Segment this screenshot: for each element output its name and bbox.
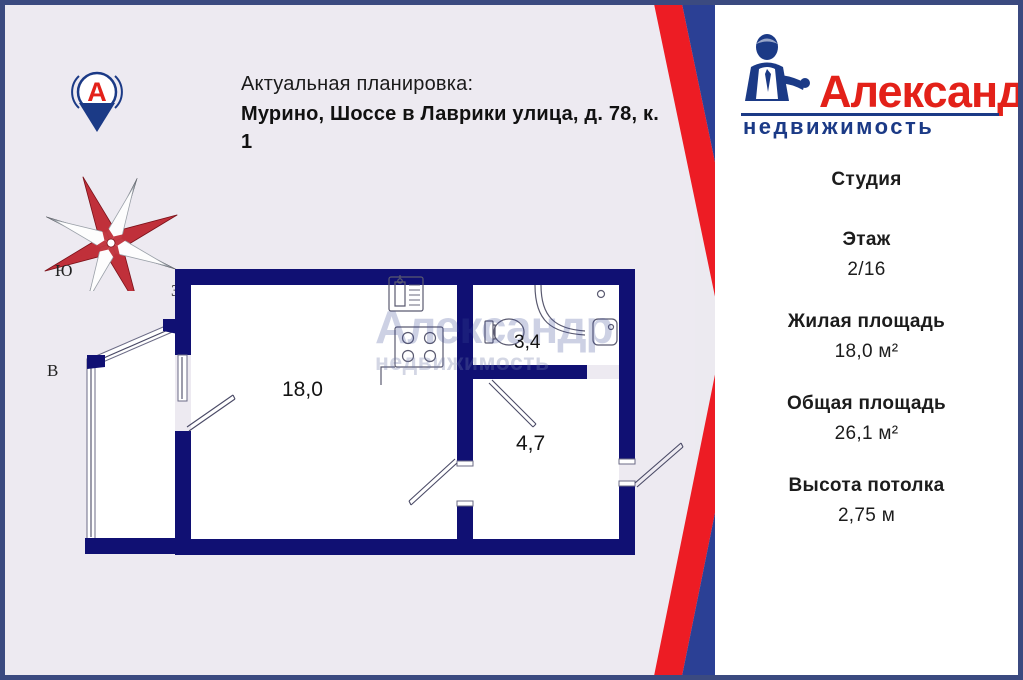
svg-text:A: A <box>87 77 107 107</box>
property-type: Студия <box>715 165 1018 195</box>
realtor-figure-icon <box>733 33 813 119</box>
plan-pane: A Актуальная планировка: Мурино, Шоссе в… <box>5 5 695 675</box>
brand-logo: Александр недвижимость <box>733 27 1003 145</box>
plan-address: Мурино, Шоссе в Лаврики улица, д. 78, к.… <box>241 100 661 156</box>
location-pin-icon: A <box>67 62 127 134</box>
floorplan-listing-card: A Актуальная планировка: Мурино, Шоссе в… <box>0 0 1023 680</box>
floor-plan-drawing: .w { fill:#101073; } .rm { fill:#ffffff;… <box>65 255 685 575</box>
plan-subtitle: Актуальная планировка: <box>241 71 661 97</box>
info-value-total-area: 26,1 м² <box>715 419 1018 449</box>
info-row-floor: Этаж 2/16 <box>715 225 1018 285</box>
brand-subtitle: недвижимость <box>743 115 934 139</box>
info-label-ceiling-height: Высота потолка <box>715 471 1018 501</box>
info-label-living-area: Жилая площадь <box>715 307 1018 337</box>
info-label-floor: Этаж <box>715 225 1018 255</box>
property-info-list: Студия Этаж 2/16 Жилая площадь 18,0 м² О… <box>715 165 1018 531</box>
compass-label-east: В <box>47 361 58 381</box>
info-row-total-area: Общая площадь 26,1 м² <box>715 389 1018 449</box>
brand-name: Александр <box>819 69 1018 115</box>
room-area-hallway: 4,7 <box>516 432 545 456</box>
info-pane: Александр недвижимость Студия Этаж 2/16 … <box>715 5 1018 675</box>
property-type-row: Студия <box>715 165 1018 195</box>
info-row-living-area: Жилая площадь 18,0 м² <box>715 307 1018 367</box>
info-value-ceiling-height: 2,75 м <box>715 501 1018 531</box>
balcony-loggia <box>85 319 189 554</box>
room-area-main: 18,0 <box>282 378 323 402</box>
info-label-total-area: Общая площадь <box>715 389 1018 419</box>
room-area-bathroom: 3,4 <box>514 332 540 354</box>
header-block: Актуальная планировка: Мурино, Шоссе в Л… <box>241 71 661 156</box>
info-value-floor: 2/16 <box>715 255 1018 285</box>
info-row-ceiling-height: Высота потолка 2,75 м <box>715 471 1018 531</box>
info-value-living-area: 18,0 м² <box>715 337 1018 367</box>
